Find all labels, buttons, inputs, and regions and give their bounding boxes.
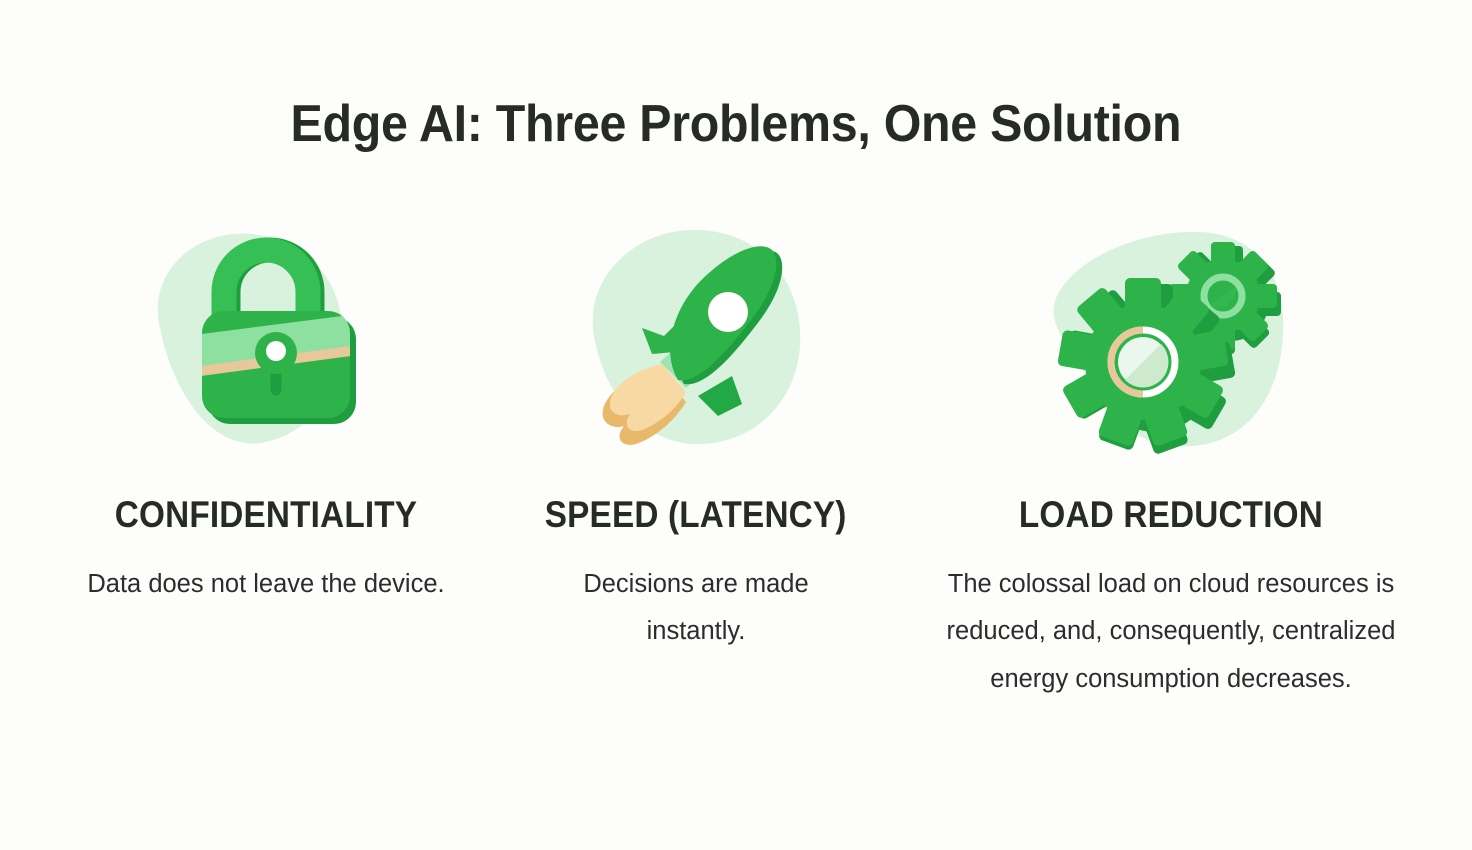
card-title: SPEED (LATENCY) (545, 496, 847, 535)
infographic-slide: Edge AI: Three Problems, One Solution (0, 0, 1472, 850)
card-title: LOAD REDUCTION (1019, 496, 1323, 535)
page-title: Edge AI: Three Problems, One Solution (291, 0, 1182, 153)
card-body: Data does not leave the device. (86, 561, 446, 608)
padlock-icon (126, 218, 406, 468)
card-body: Decisions are made instantly. (531, 561, 861, 656)
gears-icon (1031, 218, 1311, 468)
rocket-icon (556, 218, 836, 468)
card-confidentiality: CONFIDENTIALITY Data does not leave the … (51, 218, 481, 608)
card-speed-latency: SPEED (LATENCY) Decisions are made insta… (481, 218, 911, 656)
cards-row: CONFIDENTIALITY Data does not leave the … (0, 218, 1472, 703)
card-body: The colossal load on cloud resources is … (936, 561, 1406, 703)
card-title: CONFIDENTIALITY (115, 496, 417, 535)
card-load-reduction: LOAD REDUCTION The colossal load on clou… (911, 218, 1431, 703)
